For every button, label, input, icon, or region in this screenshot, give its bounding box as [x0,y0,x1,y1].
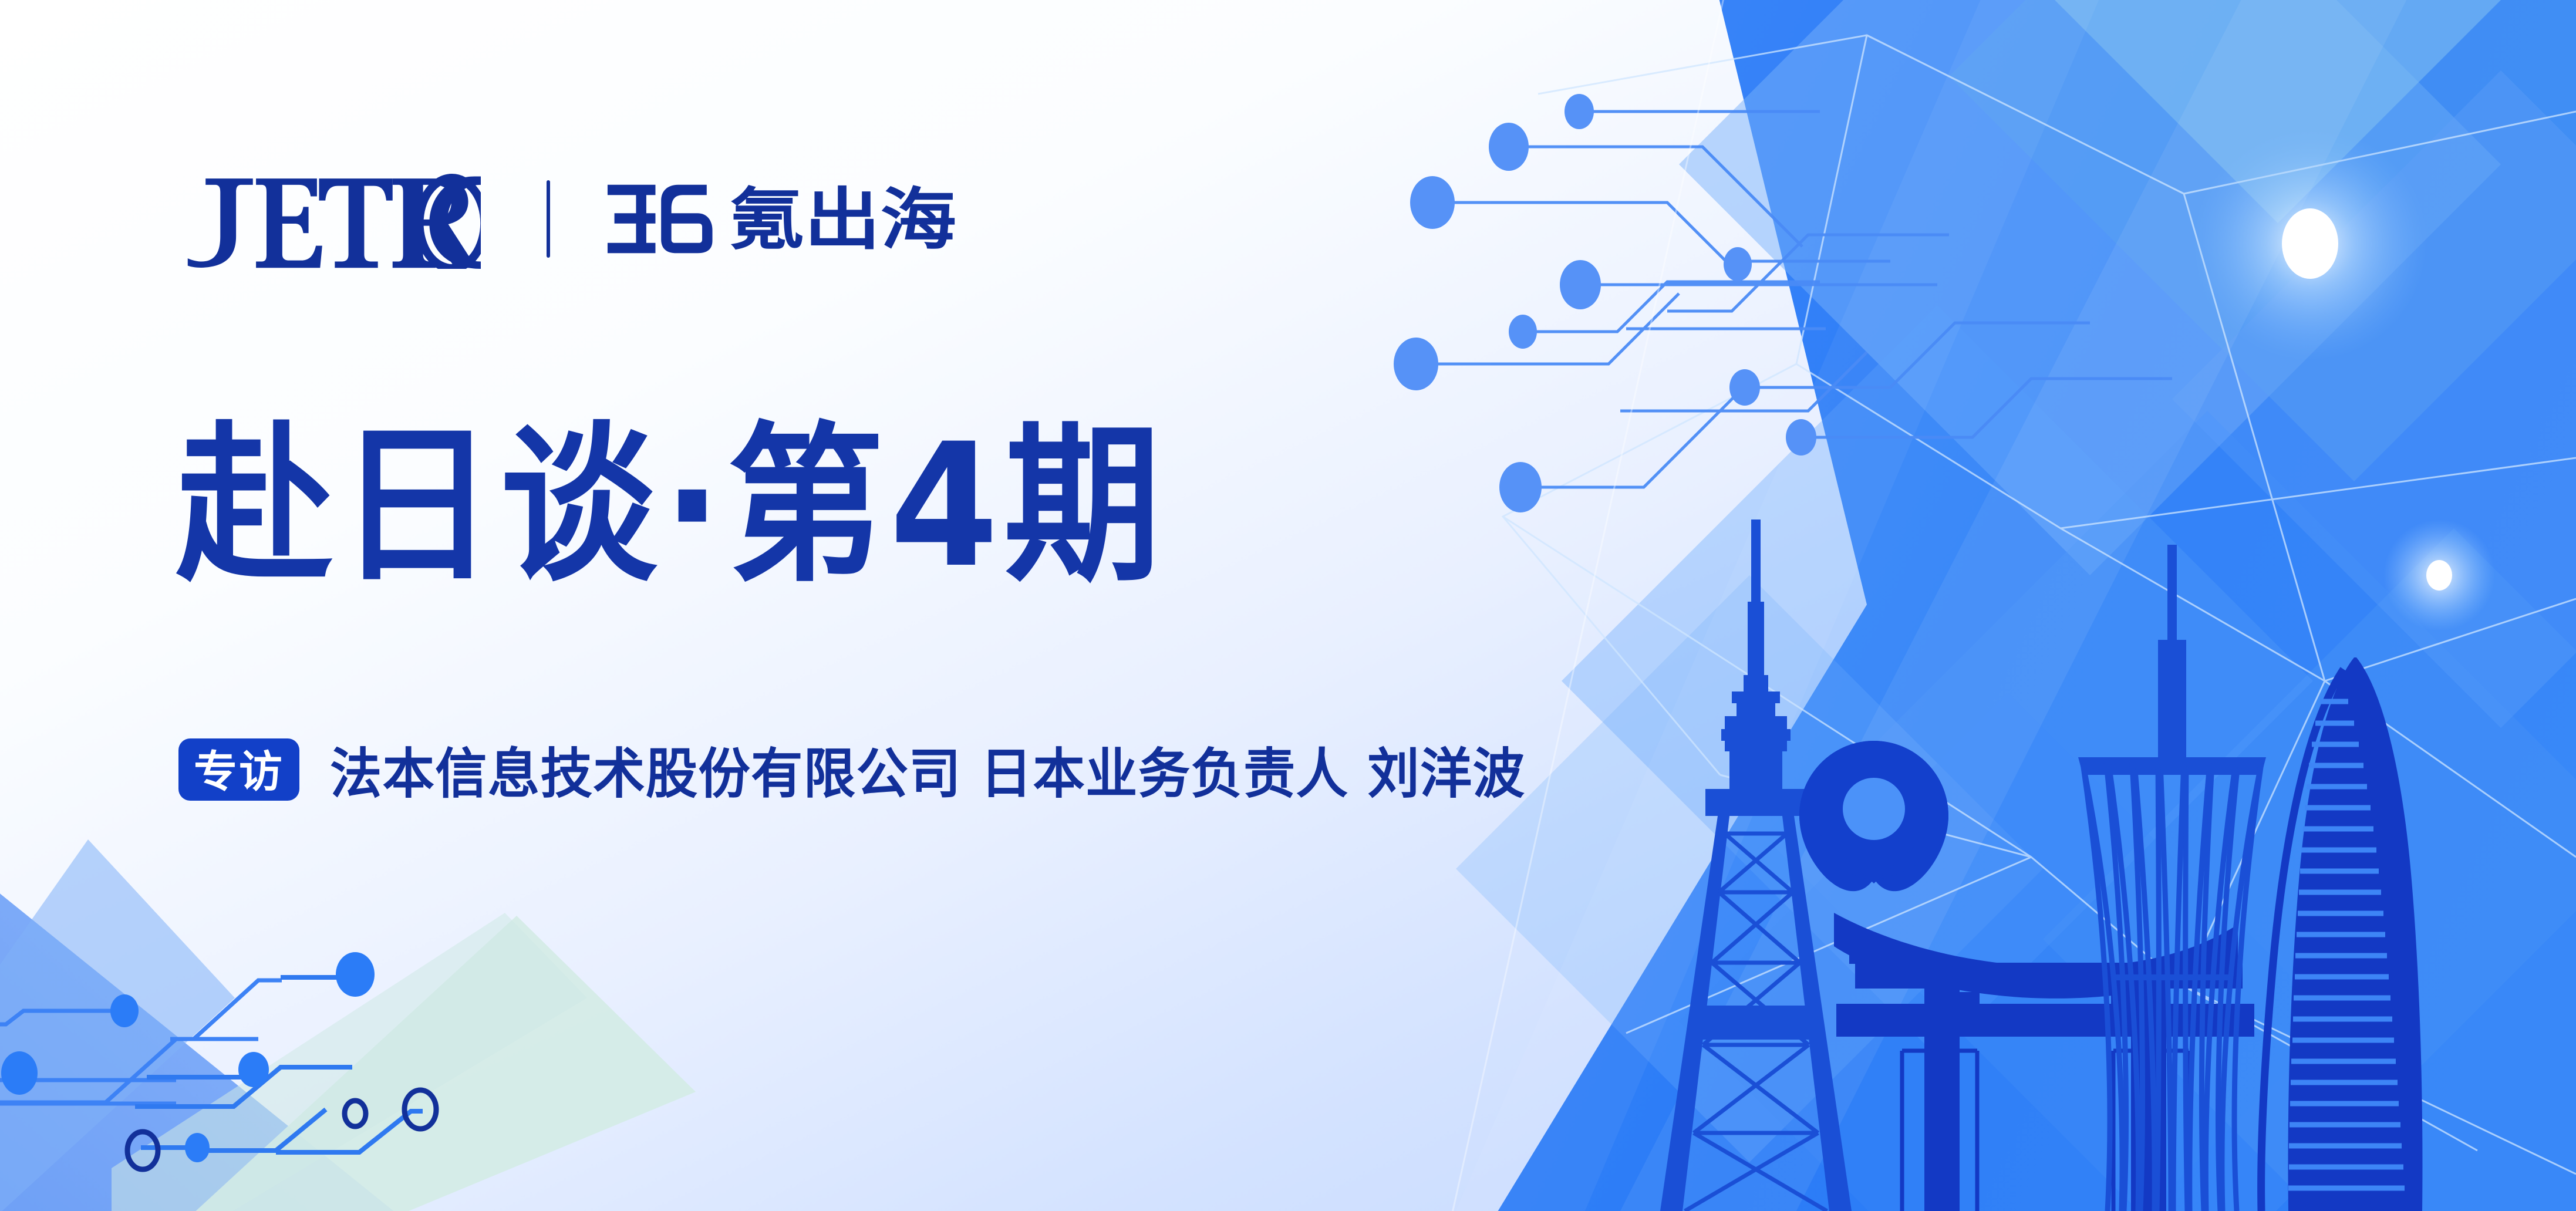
page-title: 赴日谈·第4期 [176,421,1166,592]
logo-divider [547,180,550,258]
banner-root: JETRO 36氪出海 [0,0,2576,1211]
kr-logo-cjk: 氪出海 [729,181,956,258]
subtitle-text: 法本信息技术股份有限公司 日本业务负责人 刘洋波 [330,730,1525,808]
subtitle-row: 专访 法本信息技术股份有限公司 日本业务负责人 刘洋波 [178,730,1575,808]
interview-badge: 专访 [178,738,299,801]
jetro-logo: JETRO [187,169,481,269]
logo-row: JETRO 36氪出海 [187,163,960,275]
36kr-chuhai-logo: 36氪出海 氪出海 [606,180,960,258]
